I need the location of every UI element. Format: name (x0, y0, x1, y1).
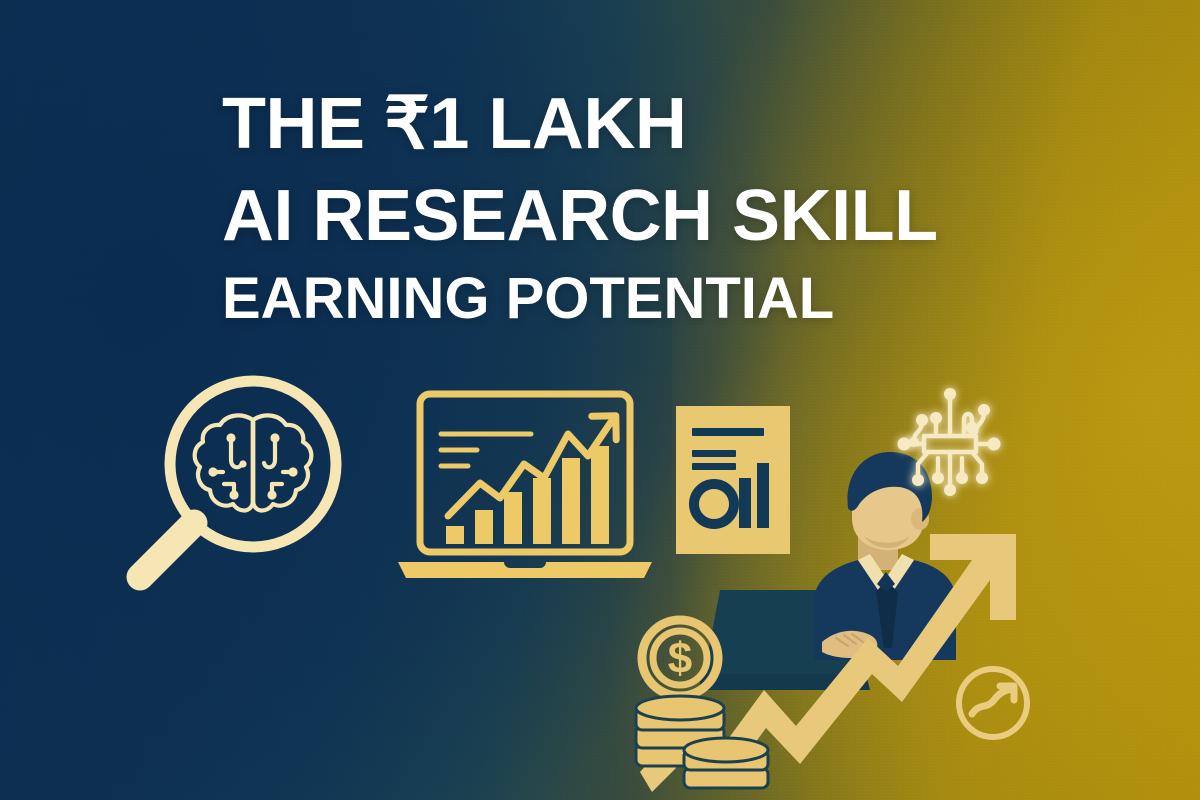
headline-line-1: THE ₹1 LAKH (222, 88, 1062, 160)
headline-line-2: AI RESEARCH SKILL (222, 180, 1062, 252)
coin-currency-symbol: $ (668, 634, 692, 683)
coin-stack-icon: $ (622, 616, 774, 794)
headline-block: THE ₹1 LAKH AI RESEARCH SKILL EARNING PO… (222, 88, 1062, 328)
ai-circuit-node-icon (888, 386, 1012, 506)
poster-canvas: THE ₹1 LAKH AI RESEARCH SKILL EARNING PO… (0, 0, 1200, 800)
laptop-growth-chart-icon (392, 386, 658, 586)
magnifier-brain-icon (110, 378, 356, 600)
headline-line-3: EARNING POTENTIAL (222, 270, 1062, 328)
trending-up-badge-icon (952, 662, 1034, 744)
